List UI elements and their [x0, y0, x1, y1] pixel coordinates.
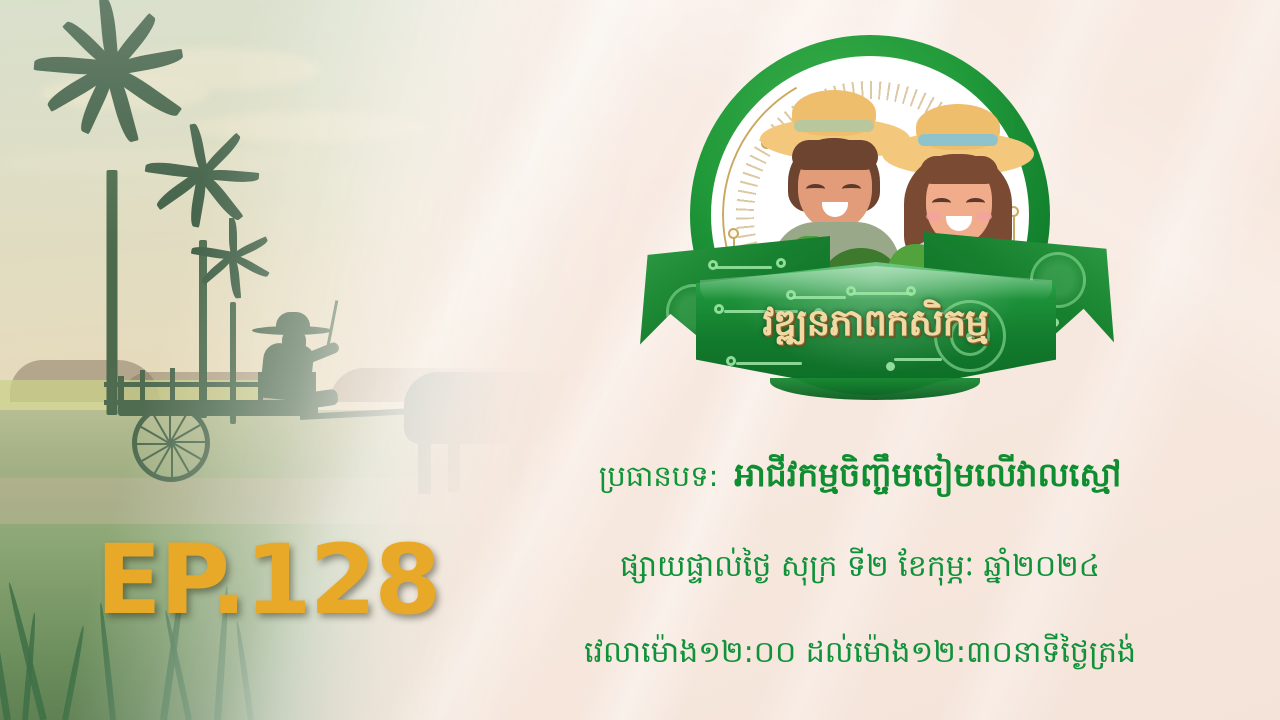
broadcast-time: វេលាម៉ោង១២:០០ ដល់ម៉ោង១២:៣០នាទីថ្ងៃត្រង់: [460, 633, 1260, 677]
circuit-node-icon: [776, 258, 786, 268]
slide-root: វឌ្ឍនភាពកសិកម្ម EP.128 ប្រធានបទ: អាជីវកម…: [0, 0, 1280, 720]
ribbon-banner: វឌ្ឍនភាពកសិកម្ម: [630, 218, 1120, 408]
topic-value: អាជីវកម្មចិញ្ចឹមចៀមលើវាលស្មៅ: [734, 455, 1121, 503]
hat-band: [794, 120, 874, 132]
hair-fringe: [792, 140, 878, 170]
hair-fringe: [920, 156, 998, 184]
topic-label: ប្រធានបទ:: [599, 459, 719, 501]
ribbon-fold-shadow: [770, 378, 980, 400]
eye-icon: [932, 198, 951, 208]
hat-band: [918, 134, 998, 146]
episode-details-block: ប្រធានបទ: អាជីវកម្មចិញ្ចឹមចៀមលើវាលស្មៅ ផ…: [460, 455, 1260, 677]
eye-icon: [966, 198, 985, 208]
episode-number: EP.128: [96, 524, 439, 636]
broadcast-date: ផ្សាយផ្ទាល់ថ្ងៃ សុក្រ ទី២ ខែកុម្ភៈ ឆ្នាំ…: [460, 547, 1260, 591]
eye-icon: [806, 184, 825, 194]
eye-icon: [842, 184, 861, 194]
circuit-line: [716, 266, 772, 269]
banner-program-title: វឌ្ឍនភាពកសិកម្ម: [630, 304, 1120, 341]
topic-row: ប្រធានបទ: អាជីវកម្មចិញ្ចឹមចៀមលើវាលស្មៅ: [460, 455, 1260, 503]
circuit-node-icon: [708, 260, 718, 270]
